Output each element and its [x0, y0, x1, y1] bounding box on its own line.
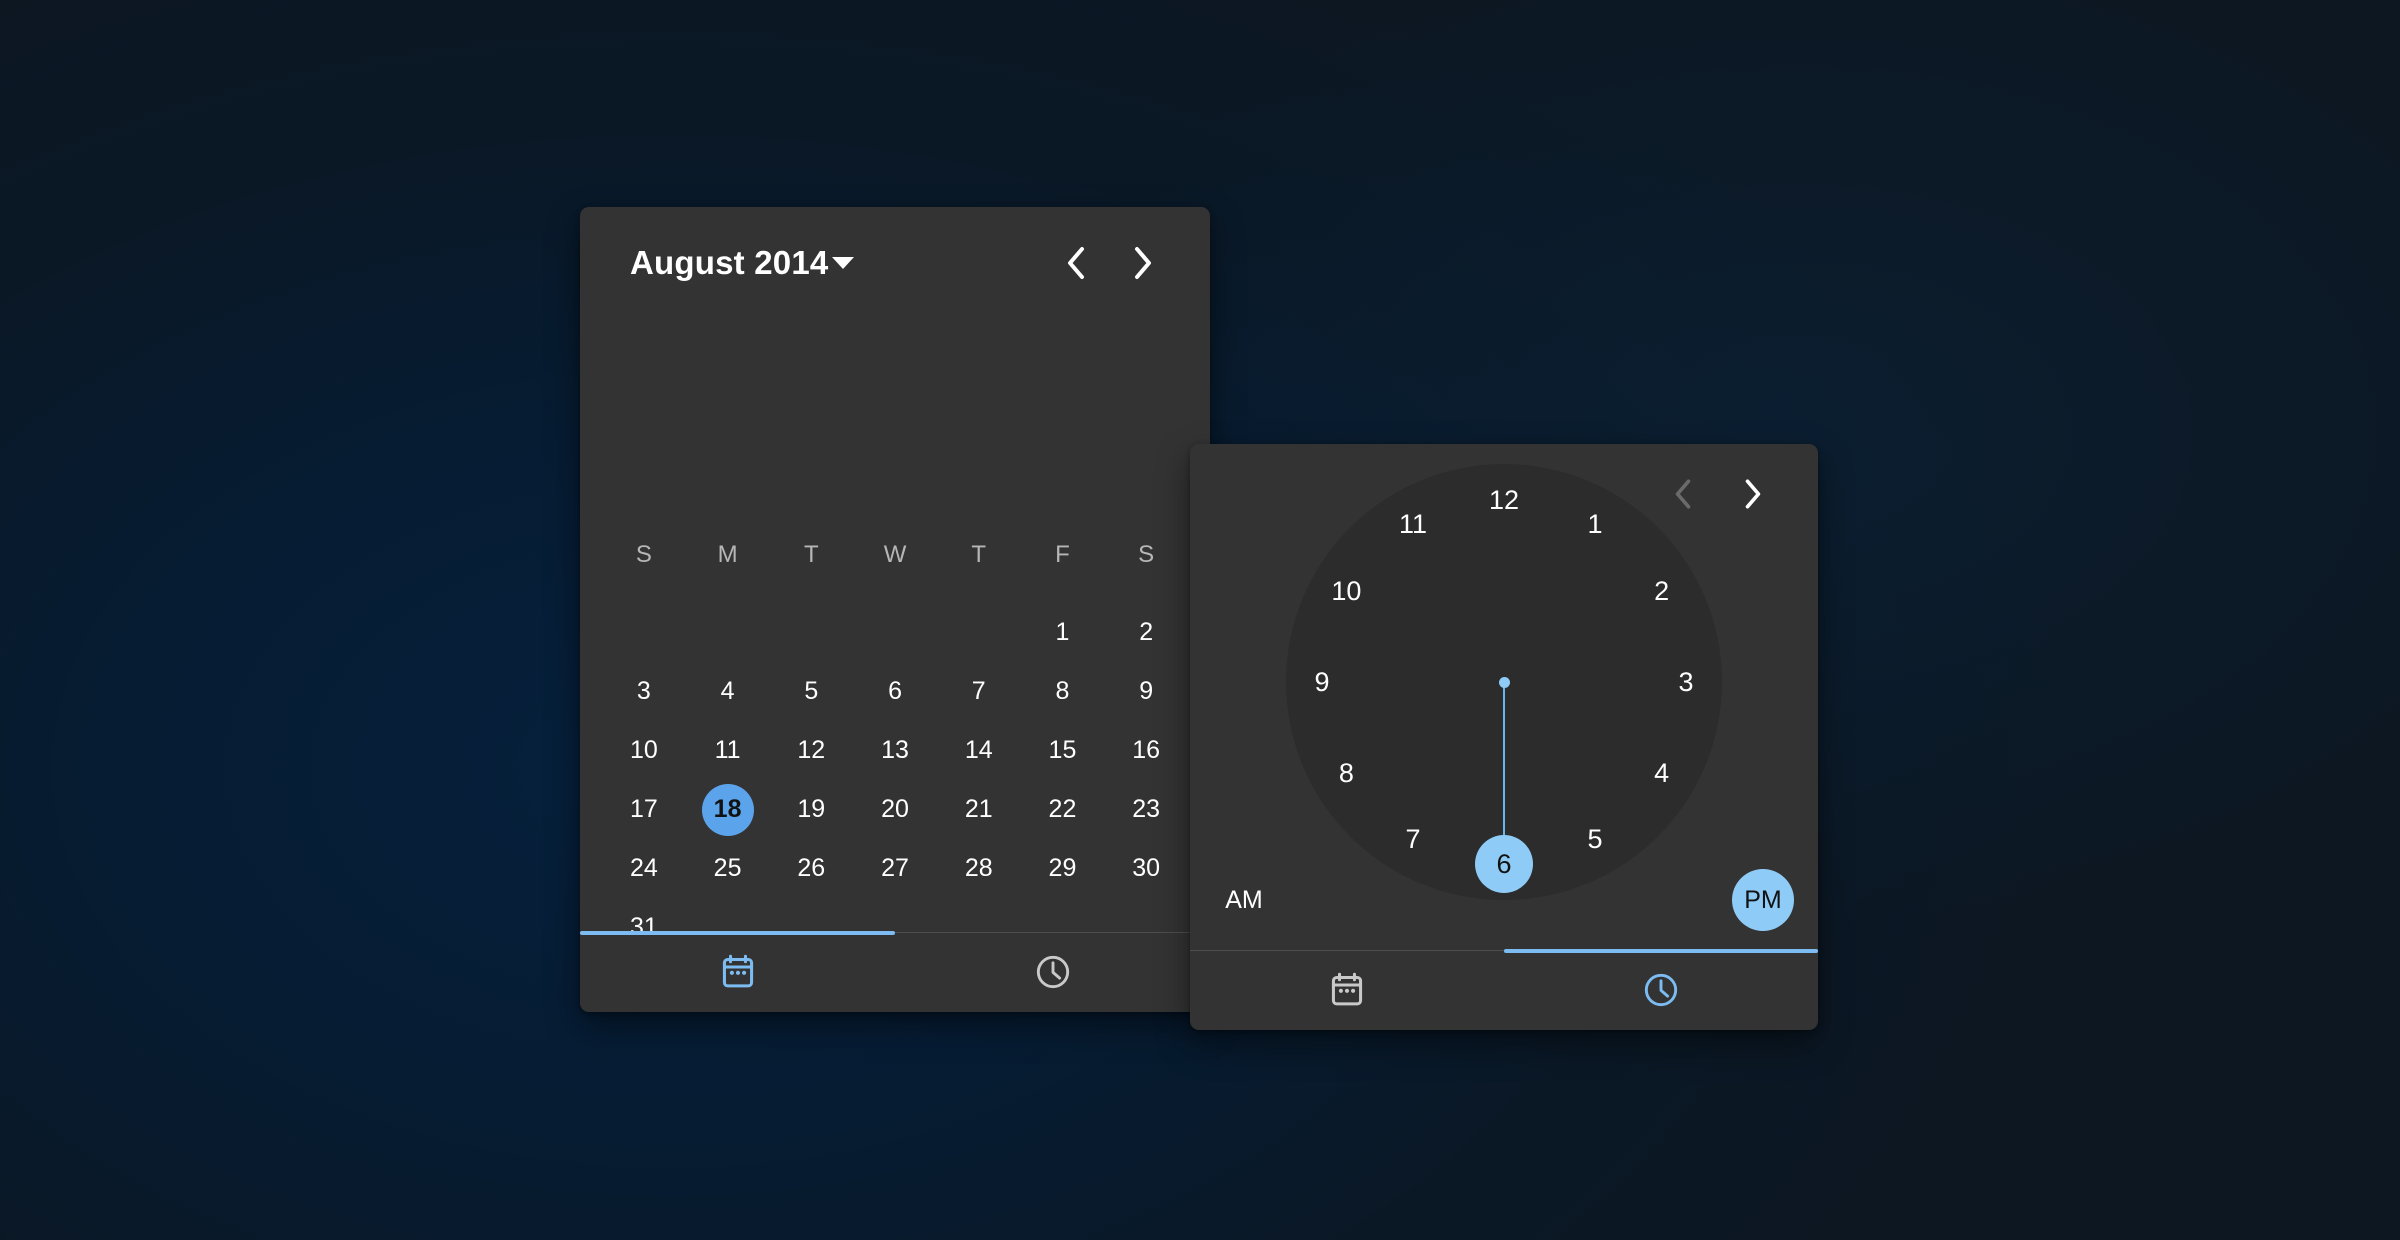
clock-icon [1643, 972, 1679, 1008]
clock-hour[interactable]: 4 [1633, 744, 1691, 802]
clock-hour[interactable]: 11 [1384, 495, 1442, 553]
calendar-day[interactable]: 7 [937, 662, 1021, 721]
calendar-day-label: 22 [1049, 795, 1077, 824]
calendar-week-row: 10111213141516 [602, 721, 1188, 780]
weekday-label-thu: T [937, 541, 1021, 569]
calendar-day-label: 3 [637, 677, 651, 706]
calendar-day-label: 4 [721, 677, 735, 706]
calendar-day[interactable]: 20 [853, 780, 937, 839]
calendar-day-label: 18 [714, 795, 742, 824]
calendar-day-label: 14 [965, 736, 993, 765]
calendar-week-row: 3456789 [602, 662, 1188, 721]
weekday-label-sun: S [602, 541, 686, 569]
date-card-tabbar [580, 932, 1210, 1012]
calendar-day-label: 25 [714, 854, 742, 883]
calendar-day[interactable]: 6 [853, 662, 937, 721]
calendar-day[interactable]: 15 [1021, 721, 1105, 780]
calendar-day[interactable]: 8 [1021, 662, 1105, 721]
tab-date[interactable] [1190, 950, 1504, 1030]
clock-hour[interactable]: 5 [1566, 811, 1624, 869]
clock-hour[interactable]: 3 [1657, 653, 1715, 711]
calendar-day[interactable]: 29 [1021, 839, 1105, 898]
calendar-day-label: 23 [1132, 795, 1160, 824]
weekday-label-sat: S [1104, 541, 1188, 569]
chevron-down-icon[interactable] [832, 257, 854, 269]
am-label: AM [1225, 886, 1263, 915]
calendar-day-label: 13 [881, 736, 909, 765]
previous-month-button[interactable] [1053, 240, 1099, 286]
calendar-day[interactable]: 13 [853, 721, 937, 780]
clock-hour[interactable]: 12 [1475, 471, 1533, 529]
calendar-day[interactable]: 25 [686, 839, 770, 898]
calendar-day[interactable]: 17 [602, 780, 686, 839]
clock-center-dot [1499, 677, 1510, 688]
clock-hour-selected[interactable]: 6 [1475, 835, 1533, 893]
calendar-day-label: 20 [881, 795, 909, 824]
month-year-label[interactable]: August 2014 [630, 244, 828, 282]
calendar-day-label: 24 [630, 854, 658, 883]
calendar-day-label: 21 [965, 795, 993, 824]
calendar-day-label: 9 [1139, 677, 1153, 706]
calendar-week-row: 12 [602, 603, 1188, 662]
calendar-day-label: 1 [1056, 618, 1070, 647]
tab-time[interactable] [1504, 950, 1818, 1030]
calendar-day-label: 12 [797, 736, 825, 765]
calendar-day[interactable]: 2 [1104, 603, 1188, 662]
pm-label: PM [1744, 886, 1782, 915]
calendar-day-label: 28 [965, 854, 993, 883]
clock-dial[interactable]: 121234567891011 [1286, 464, 1722, 900]
calendar-day[interactable]: 28 [937, 839, 1021, 898]
date-picker-card: August 2014 S M T W T F S 12345678910111… [580, 207, 1210, 1012]
calendar-day-label: 17 [630, 795, 658, 824]
calendar-icon [721, 954, 755, 990]
calendar-day-empty [769, 603, 853, 662]
calendar-day[interactable]: 14 [937, 721, 1021, 780]
time-card-tabbar [1190, 950, 1818, 1030]
calendar-day[interactable]: 12 [769, 721, 853, 780]
calendar-day-empty [602, 603, 686, 662]
tab-date[interactable] [580, 932, 895, 1012]
calendar-day[interactable]: 10 [602, 721, 686, 780]
calendar-day-label: 2 [1139, 618, 1153, 647]
calendar-day-empty [937, 603, 1021, 662]
weekday-label-wed: W [853, 541, 937, 569]
next-time-button[interactable] [1730, 471, 1776, 517]
clock-hand[interactable] [1503, 682, 1506, 835]
calendar-day[interactable]: 24 [602, 839, 686, 898]
calendar-day-selected[interactable]: 18 [686, 780, 770, 839]
clock-hour[interactable]: 10 [1317, 562, 1375, 620]
calendar-day-label: 27 [881, 854, 909, 883]
calendar-day[interactable]: 5 [769, 662, 853, 721]
weekday-label-fri: F [1021, 541, 1105, 569]
calendar-day-empty [853, 603, 937, 662]
calendar-day[interactable]: 22 [1021, 780, 1105, 839]
calendar-day[interactable]: 21 [937, 780, 1021, 839]
clock-hour[interactable]: 8 [1317, 744, 1375, 802]
calendar-day[interactable]: 16 [1104, 721, 1188, 780]
time-picker-card: 121234567891011 AM PM [1190, 444, 1818, 1030]
calendar-day-label: 6 [888, 677, 902, 706]
calendar-day[interactable]: 11 [686, 721, 770, 780]
calendar-week-row: 17181920212223 [602, 780, 1188, 839]
calendar-day-label: 5 [804, 677, 818, 706]
clock-hour[interactable]: 7 [1384, 811, 1442, 869]
pm-button[interactable]: PM [1732, 869, 1794, 931]
weekday-header-row: S M T W T F S [602, 541, 1188, 569]
calendar-day-empty [686, 603, 770, 662]
calendar-day[interactable]: 27 [853, 839, 937, 898]
calendar-day[interactable]: 1 [1021, 603, 1105, 662]
calendar-day-label: 29 [1049, 854, 1077, 883]
calendar-day[interactable]: 9 [1104, 662, 1188, 721]
clock-hour[interactable]: 9 [1293, 653, 1351, 711]
calendar-day[interactable]: 30 [1104, 839, 1188, 898]
calendar-day[interactable]: 19 [769, 780, 853, 839]
calendar-day-label: 10 [630, 736, 658, 765]
calendar-day-label: 8 [1056, 677, 1070, 706]
am-button[interactable]: AM [1213, 869, 1275, 931]
calendar-day[interactable]: 4 [686, 662, 770, 721]
calendar-day[interactable]: 26 [769, 839, 853, 898]
calendar-day-label: 26 [797, 854, 825, 883]
clock-area: 121234567891011 AM PM [1190, 444, 1818, 930]
calendar-day[interactable]: 3 [602, 662, 686, 721]
next-month-button[interactable] [1120, 240, 1166, 286]
calendar-day-label: 16 [1132, 736, 1160, 765]
calendar-week-row: 24252627282930 [602, 839, 1188, 898]
calendar-day-label: 19 [797, 795, 825, 824]
weekday-label-tue: T [769, 541, 853, 569]
clock-hour[interactable]: 1 [1566, 495, 1624, 553]
calendar-day-label: 15 [1049, 736, 1077, 765]
calendar-day-label: 7 [972, 677, 986, 706]
calendar-day-label: 30 [1132, 854, 1160, 883]
clock-hour[interactable]: 2 [1633, 562, 1691, 620]
previous-time-button[interactable] [1660, 471, 1706, 517]
calendar-icon [1330, 972, 1364, 1008]
weekday-label-mon: M [686, 541, 770, 569]
tab-time[interactable] [895, 932, 1210, 1012]
calendar-day-label: 11 [715, 736, 741, 765]
clock-icon [1035, 954, 1071, 990]
calendar-day[interactable]: 23 [1104, 780, 1188, 839]
date-picker-header: August 2014 [580, 207, 1210, 319]
